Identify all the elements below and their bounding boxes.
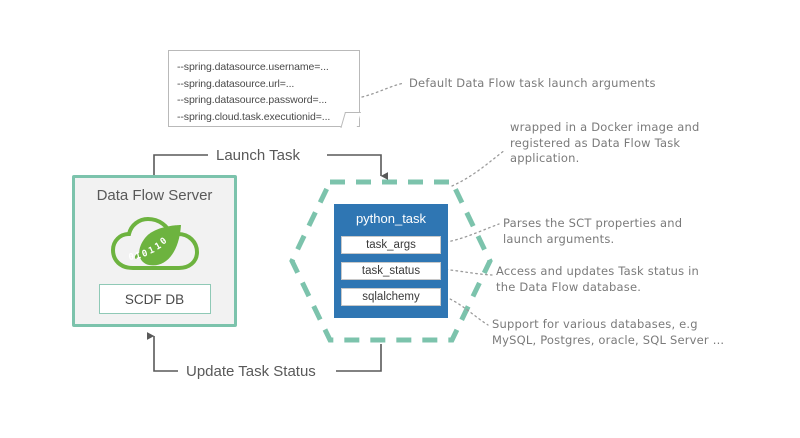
arg-line: --spring.cloud.task.executionid=... — [177, 109, 359, 126]
annotation-parses-properties: Parses the SCT properties and launch arg… — [503, 216, 682, 247]
launch-task-label: Launch Task — [216, 147, 300, 164]
arg-line: --spring.datasource.password=... — [177, 92, 359, 109]
arg-line: --spring.datasource.username=... — [177, 59, 359, 76]
python-task-box: python_task task_args task_status sqlalc… — [334, 204, 448, 318]
data-flow-server-title: Data Flow Server — [75, 187, 234, 204]
logo-binary-text: 0 — [127, 252, 134, 263]
arg-line: --spring.datasource.url=... — [177, 76, 359, 93]
python-task-row-sqlalchemy: sqlalchemy — [341, 288, 441, 306]
data-flow-server-box: Data Flow Server 0 1 0 1 1 0 SCDF DB — [72, 175, 237, 327]
python-task-row-task-status: task_status — [341, 262, 441, 280]
scdf-db-box: SCDF DB — [99, 284, 211, 314]
python-task-row-task-args: task_args — [341, 236, 441, 254]
annotation-default-launch-args: Default Data Flow task launch arguments — [409, 76, 656, 92]
python-task-title: python_task — [334, 211, 448, 226]
annotation-database-support: Support for various databases, e.g MySQL… — [492, 317, 724, 348]
annotation-docker-image: wrapped in a Docker image and registered… — [510, 120, 700, 167]
annotation-access-task-status: Access and updates Task status in the Da… — [496, 264, 699, 295]
launch-arguments-note: --spring.datasource.username=... --sprin… — [168, 50, 360, 127]
spring-cloud-logo-icon: 0 1 0 1 1 0 — [109, 214, 201, 276]
update-task-status-label: Update Task Status — [186, 363, 316, 380]
